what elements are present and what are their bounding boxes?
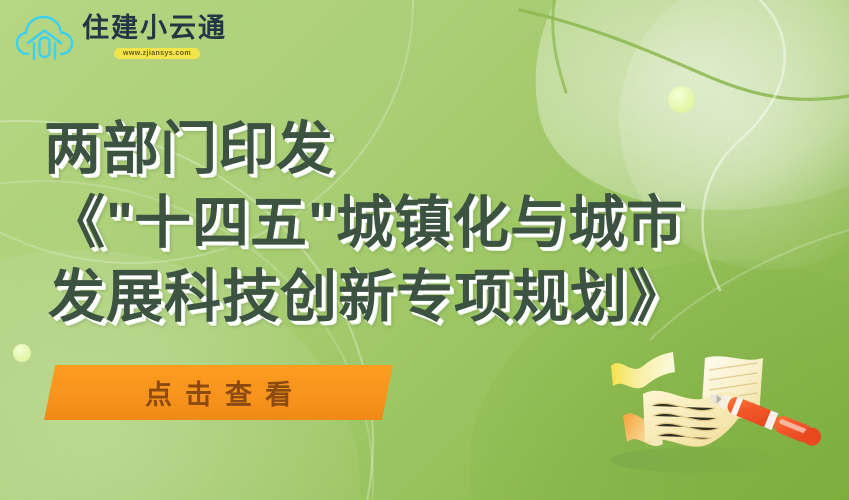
brand-logo[interactable]: 住建小云通 www.zjiansys.com xyxy=(14,10,227,62)
headline-line-1: 两部门印发 xyxy=(44,112,849,186)
headline: 两部门印发 《"十四五"城镇化与城市 发展科技创新专项规划》 xyxy=(0,112,849,334)
promo-banner: 住建小云通 www.zjiansys.com 两部门印发 《"十四五"城镇化与城… xyxy=(0,0,849,500)
view-details-button-label: 点击查看 xyxy=(132,373,305,412)
paper-slip-yellow xyxy=(611,352,675,388)
view-details-button[interactable]: 点击查看 xyxy=(44,365,393,420)
cloud-house-icon xyxy=(14,10,76,62)
brand-url-badge: www.zjiansys.com xyxy=(114,48,200,59)
headline-line-3: 发展科技创新专项规划》 xyxy=(48,260,849,334)
documents-and-pen-illustration xyxy=(583,332,843,492)
headline-line-2: 《"十四五"城镇化与城市 xyxy=(48,186,849,260)
brand-name: 住建小云通 xyxy=(82,15,227,42)
